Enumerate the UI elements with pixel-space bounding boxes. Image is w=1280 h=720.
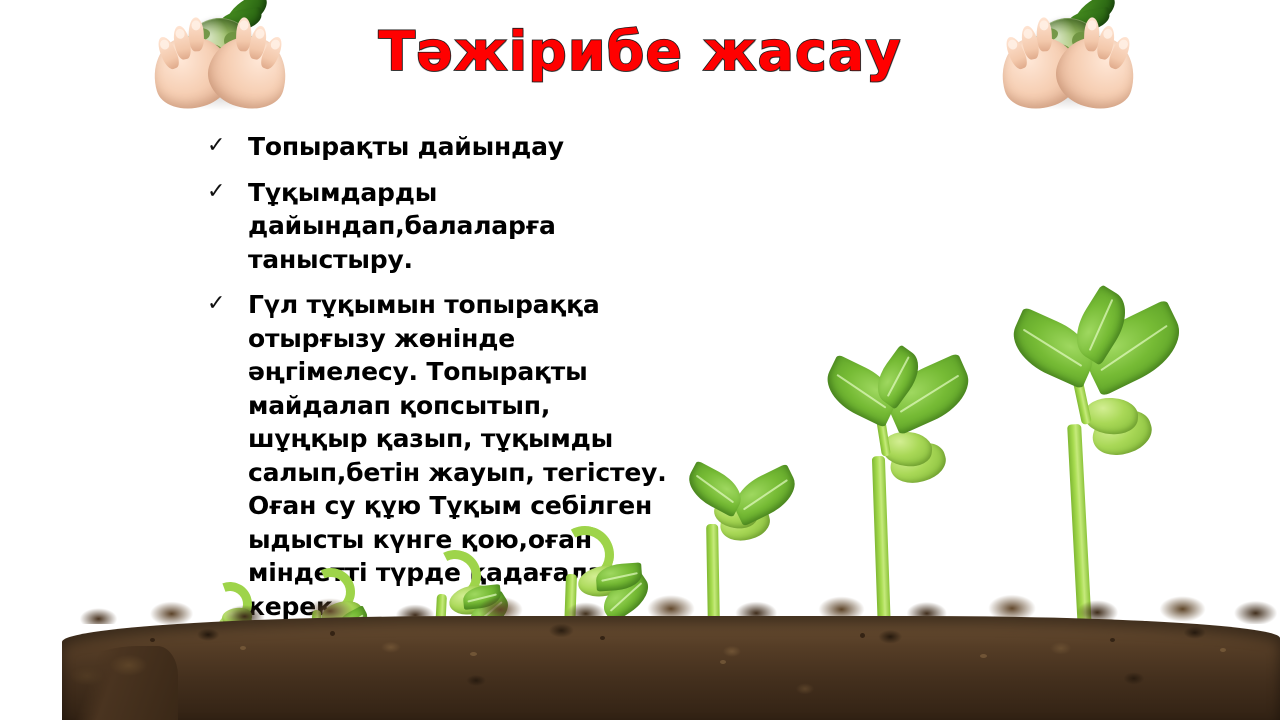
checkmark-icon: ✓ [207,177,225,207]
cotyledon [1083,396,1139,436]
soil-body [62,616,1280,720]
list-item-label: Топырақты дайындау [248,132,564,161]
soil-speck [1220,648,1226,652]
right-palm [1049,27,1144,118]
plant-stage-7 [1000,252,1190,632]
page-title: Тәжірибе жасау [300,24,980,81]
soil-speck [330,631,335,636]
fingernail [1117,38,1129,51]
hands-shape [155,30,285,108]
right-palm [201,27,296,118]
list-item: ✓ Тұқымдарды дайындап,балаларға таныстыр… [205,176,675,277]
soil-bed [0,590,1280,720]
soil-speck [150,638,155,642]
hands-holding-globe-image-left [152,2,292,114]
presentation-slide: Тәжірибе жасау [0,0,1280,720]
soil-speck [600,636,605,640]
fingernail [191,20,200,30]
checkmark-icon: ✓ [207,131,225,161]
fingernail [175,28,186,40]
soil-speck [720,660,726,664]
soil-speck [860,633,865,638]
soil-speck [470,652,477,656]
soil-speck [980,654,987,658]
hands-shape [1003,30,1133,108]
fingernail [1006,38,1018,51]
checkmark-icon: ✓ [207,289,225,319]
fingernail [158,38,170,51]
list-item: ✓ Топырақты дайындау [205,130,675,164]
plant-stage-6 [830,332,990,632]
fingernail [1039,20,1048,30]
hands-holding-globe-image-right [1000,2,1140,114]
fingernail [269,38,281,51]
fingernail [1087,20,1096,30]
fingernail [239,20,248,30]
soil-speck [240,646,246,650]
list-item-label: Тұқымдарды дайындап,балаларға таныстыру. [248,178,556,274]
fingernail [1023,28,1034,40]
soil-speck [1110,638,1115,642]
fingernail [254,28,265,40]
fingernail [1102,28,1113,40]
